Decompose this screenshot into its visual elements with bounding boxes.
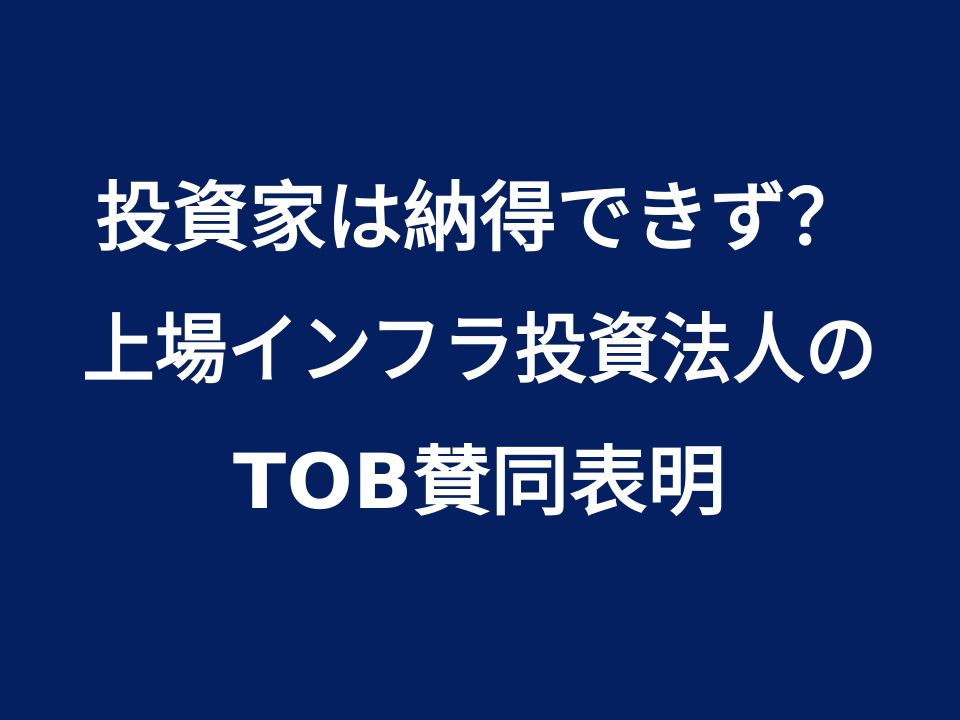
title-text-block: 投資家は納得できず？ 上場インフラ投資法人の TOB賛同表明 [0,152,960,548]
title-line-1: 投資家は納得できず？ [96,152,864,284]
title-card: 投資家は納得できず？ 上場インフラ投資法人の TOB賛同表明 [0,0,960,720]
title-line-3: TOB賛同表明 [233,416,726,548]
title-line-2: 上場インフラ投資法人の [83,284,878,416]
